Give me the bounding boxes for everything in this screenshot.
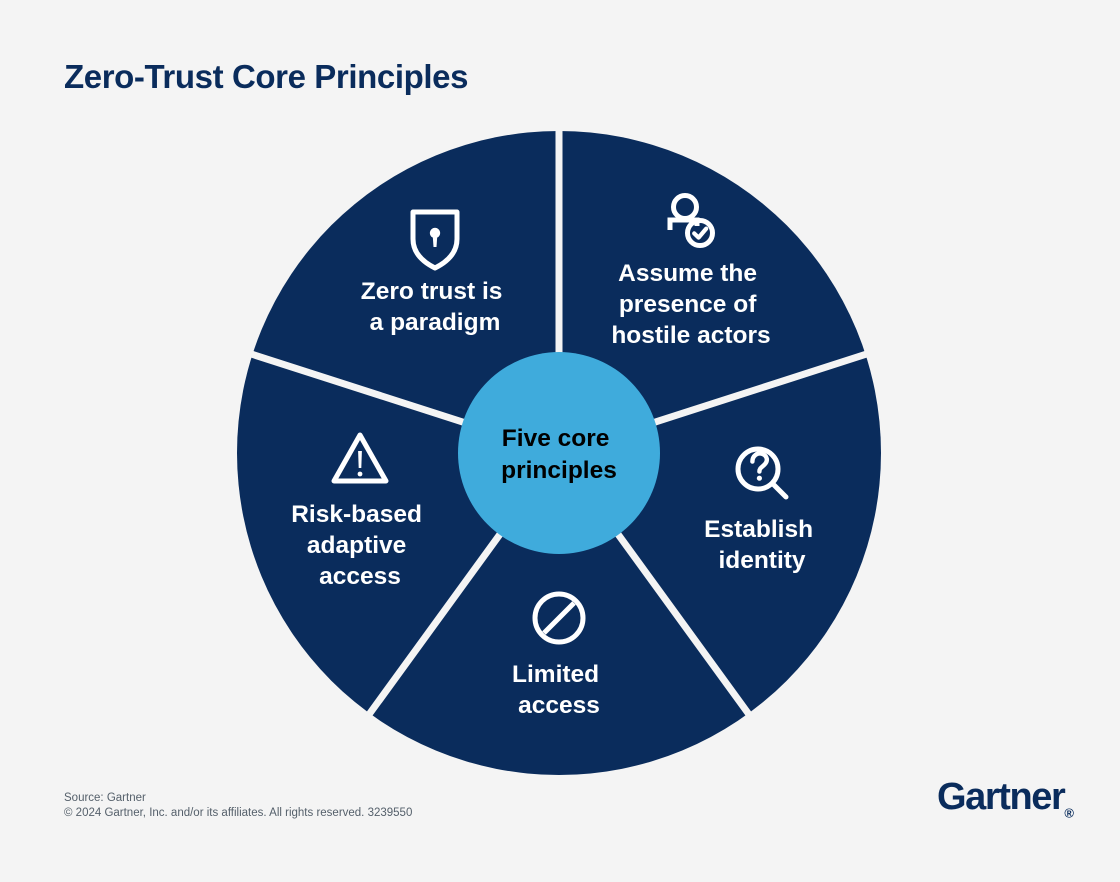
five-core-principles-wheel: Zero trust is a paradigm Assume the pres… xyxy=(0,0,1120,882)
infographic-page: Zero-Trust Core Principles xyxy=(0,0,1120,882)
footer-source: Source: Gartner xyxy=(64,791,412,806)
gartner-logo: Gartner® xyxy=(937,778,1074,820)
footer: Source: Gartner © 2024 Gartner, Inc. and… xyxy=(64,791,412,821)
gartner-wordmark: Gartner xyxy=(937,776,1064,818)
registered-trademark-icon: ® xyxy=(1064,806,1074,821)
segment-label: Assume the presence of hostile actors xyxy=(611,260,770,349)
wheel-hub xyxy=(458,352,660,554)
footer-copyright: © 2024 Gartner, Inc. and/or its affiliat… xyxy=(64,806,412,821)
